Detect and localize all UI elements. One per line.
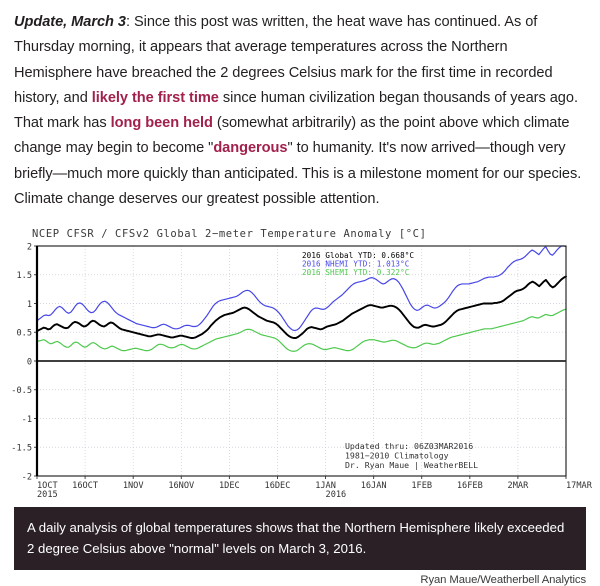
y-axis-tick-label: -1.5: [11, 444, 32, 454]
chart-annotation-line: Dr. Ryan Maue | WeatherBELL: [345, 460, 478, 470]
x-axis-tick-label: 2MAR: [508, 481, 530, 491]
x-axis-tick-label: 17MAR: [566, 481, 593, 491]
temperature-anomaly-chart: NCEP CFSR / CFSv2 Global 2−meter Tempera…: [0, 222, 600, 507]
legend-entry: 2016 SHEMI YTD: 0.322°C: [302, 269, 409, 278]
y-axis-tick-label: 0: [27, 358, 32, 368]
chart-svg: NCEP CFSR / CFSv2 Global 2−meter Tempera…: [0, 222, 600, 507]
chart-title: NCEP CFSR / CFSv2 Global 2−meter Tempera…: [32, 228, 427, 240]
x-axis-tick-label: 16DEC: [265, 481, 291, 491]
chart-figure: NCEP CFSR / CFSv2 Global 2−meter Tempera…: [0, 222, 600, 586]
x-axis-tick-sublabel: 2015: [37, 490, 58, 500]
x-axis-tick-label: 1DEC: [219, 481, 240, 491]
x-axis-tick-label: 1NOV: [123, 481, 144, 491]
article-body: Update, March 3: Since this post was wri…: [0, 0, 600, 212]
x-axis-tick-label: 16JAN: [361, 481, 387, 491]
y-axis-tick-label: -1: [22, 415, 32, 425]
y-axis-tick-label: 1: [27, 300, 32, 310]
x-axis-tick-label: 1FEB: [411, 481, 432, 491]
y-axis-tick-label: 0.5: [16, 329, 32, 339]
x-axis-tick-sublabel: 2016: [326, 490, 347, 500]
chart-caption: A daily analysis of global temperatures …: [14, 507, 586, 570]
y-axis-tick-label: 1.5: [16, 272, 32, 282]
update-lead-label: Update, March 3: [14, 14, 126, 30]
intro-paragraph: Update, March 3: Since this post was wri…: [14, 10, 586, 212]
inline-link[interactable]: dangerous: [213, 140, 287, 156]
x-axis-tick-label: 16NOV: [168, 481, 194, 491]
intro-rich-text: : Since this post was written, the heat …: [14, 14, 581, 207]
y-axis-tick-label: 2: [27, 243, 32, 253]
x-axis-tick-label: 16FEB: [457, 481, 483, 491]
x-axis-tick-label: 16OCT: [72, 481, 98, 491]
y-axis-tick-label: -0.5: [11, 387, 32, 397]
inline-link[interactable]: likely the first time: [92, 90, 219, 106]
inline-link[interactable]: long been held: [111, 115, 213, 131]
y-axis-tick-label: -2: [22, 473, 32, 483]
chart-credit: Ryan Maue/Weatherbell Analytics: [0, 574, 586, 586]
